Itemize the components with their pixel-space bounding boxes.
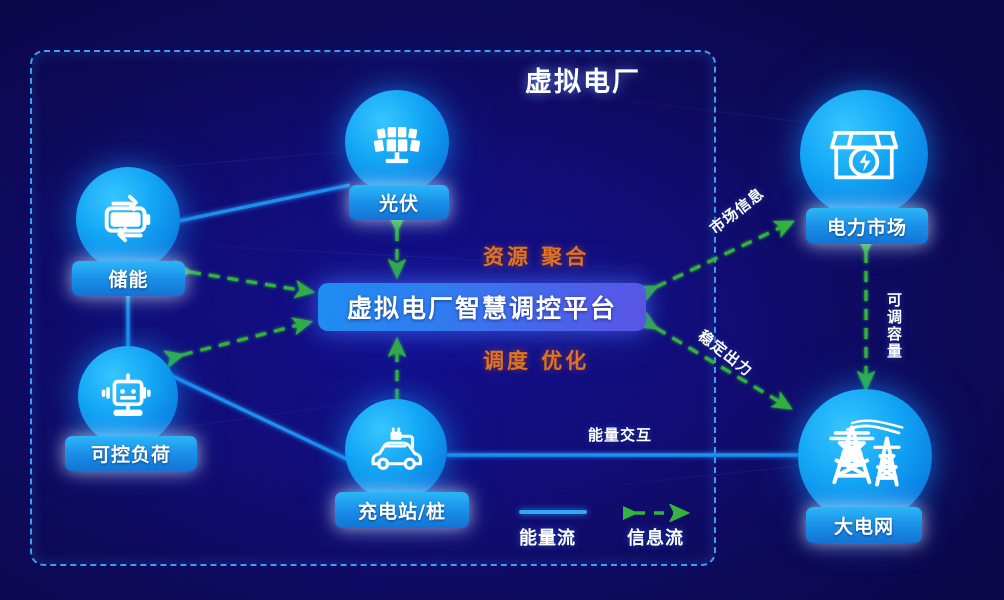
legend: 能量流 信息流 [519,500,709,552]
pv-label[interactable]: 光伏 [349,185,449,220]
market-circle[interactable] [800,90,928,218]
ev-charging-icon [363,417,429,483]
grid-circle[interactable] [798,389,932,523]
storage-circle[interactable] [76,167,180,271]
diagram-title: 虚拟电厂 [525,60,641,99]
legend-energy-flow-label: 能量流 [519,524,576,550]
edge-label-energy-exchange: 能量交互 [588,424,652,445]
market-shop-bolt-icon [824,114,904,194]
slogan-resource-aggregation: 资源 聚合 [483,241,589,271]
legend-info-flow-label: 信息流 [627,524,684,550]
solar-panel-icon [367,112,427,172]
slogan-dispatch-optimization: 调度 优化 [483,345,589,375]
battery-recycle-icon [97,188,159,250]
grid-label[interactable]: 大电网 [806,507,922,543]
transmission-tower-icon [819,410,911,502]
charger-label[interactable]: 充电站/桩 [335,492,469,528]
pv-circle[interactable] [345,90,449,194]
load-circle[interactable] [78,346,178,446]
edge-label-adjustable-capacity: 可调容量 [884,292,905,360]
market-label[interactable]: 电力市场 [806,208,928,244]
energy-flow-swatch-icon [519,510,587,514]
diagram-canvas: 虚拟电厂 [0,0,1004,600]
platform-bar[interactable]: 虚拟电厂智慧调控平台 [318,283,646,331]
charger-circle[interactable] [345,399,447,501]
info-flow-swatch-icon [623,504,699,522]
robot-icon [99,367,157,425]
storage-label[interactable]: 储能 [72,261,185,296]
load-label[interactable]: 可控负荷 [65,436,197,471]
